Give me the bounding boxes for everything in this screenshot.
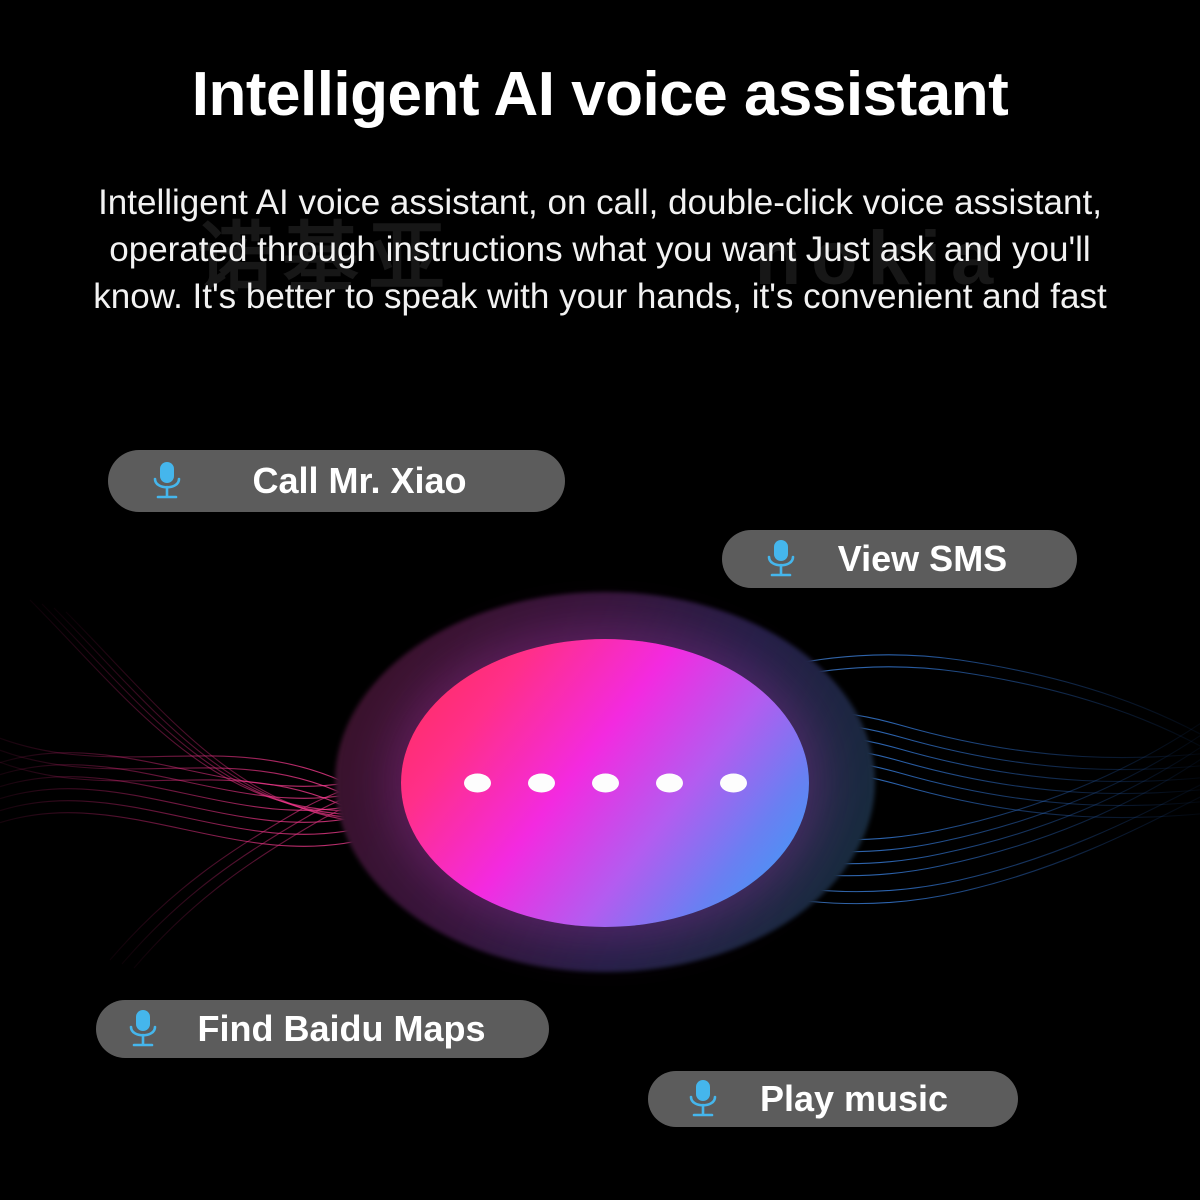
orb-gradient-body[interactable] bbox=[401, 639, 809, 927]
voice-command-chip-call[interactable]: Call Mr. Xiao bbox=[108, 450, 565, 512]
page-description: Intelligent AI voice assistant, on call,… bbox=[60, 180, 1140, 321]
chip-label: Find Baidu Maps bbox=[160, 1008, 523, 1050]
listening-dot bbox=[528, 774, 555, 793]
microphone-icon bbox=[764, 538, 798, 580]
listening-dot bbox=[656, 774, 683, 793]
microphone-icon bbox=[150, 460, 184, 502]
voice-command-chip-music[interactable]: Play music bbox=[648, 1071, 1018, 1127]
voice-assistant-promo-page: 诺基亚nokia Intelligent AI voice assistant … bbox=[0, 0, 1200, 1200]
chip-label: Call Mr. Xiao bbox=[184, 460, 535, 502]
listening-dot bbox=[720, 774, 747, 793]
microphone-icon bbox=[686, 1078, 720, 1120]
microphone-icon bbox=[126, 1008, 160, 1050]
page-title: Intelligent AI voice assistant bbox=[0, 62, 1200, 127]
listening-dot bbox=[592, 774, 619, 793]
chip-label: View SMS bbox=[798, 538, 1047, 580]
voice-command-chip-sms[interactable]: View SMS bbox=[722, 530, 1077, 588]
chip-label: Play music bbox=[720, 1078, 988, 1120]
listening-dot bbox=[464, 774, 491, 793]
listening-dots bbox=[401, 774, 809, 793]
voice-command-chip-maps[interactable]: Find Baidu Maps bbox=[96, 1000, 549, 1058]
voice-assistant-orb[interactable] bbox=[335, 592, 875, 972]
